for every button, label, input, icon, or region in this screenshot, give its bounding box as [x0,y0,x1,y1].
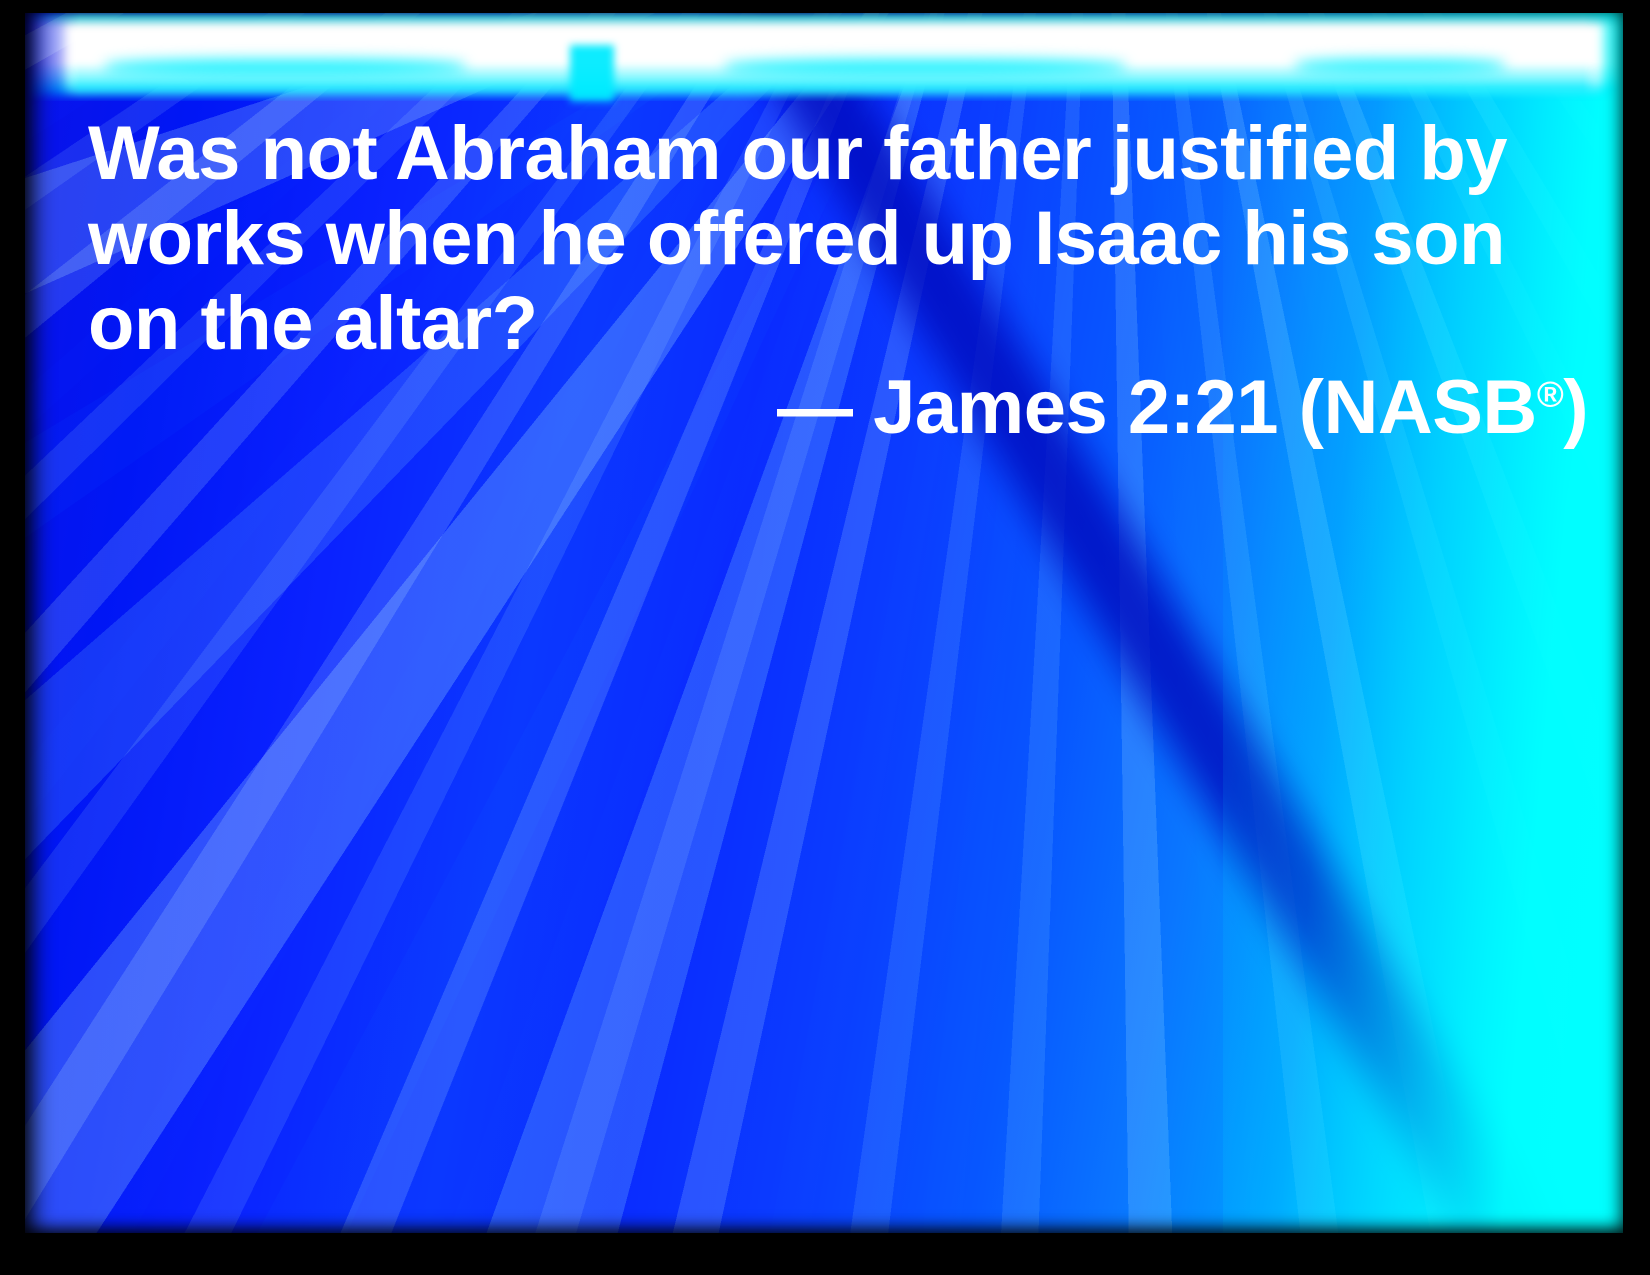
slide-frame: Was not Abraham our father justified by … [0,0,1650,1275]
registered-trademark-icon: ® [1537,374,1563,415]
verse-text: Was not Abraham our father justified by … [88,111,1588,366]
verse-attribution: — James 2:21 (NASB®) [88,365,1588,450]
verse-layer: Was not Abraham our father justified by … [25,13,1623,1233]
attribution-version-open: (NASB [1299,365,1537,450]
attribution-book: James [873,365,1107,450]
attribution-dash: — [777,365,853,450]
attribution-version-close: ) [1563,365,1588,450]
slide-canvas: Was not Abraham our father justified by … [25,13,1623,1233]
attribution-reference: 2:21 [1128,365,1278,450]
